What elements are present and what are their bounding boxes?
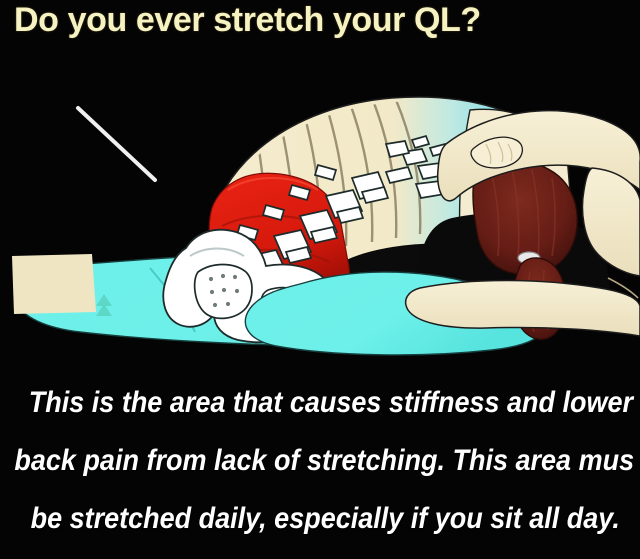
- caption-block: This is the area that causes stiffness a…: [0, 372, 640, 559]
- infographic-poster: Do you ever stretch your QL? quadratus l…: [0, 0, 640, 559]
- anatomy-illustration: [0, 40, 640, 370]
- page-title: Do you ever stretch your QL?: [14, 0, 634, 42]
- caption-line-1: This is the area that causes stiffness a…: [0, 386, 605, 420]
- thigh-skin: [12, 254, 96, 314]
- caption-line-2: back pain from lack of stretching. This …: [0, 444, 590, 478]
- caption-line-3: be stretched daily, especially if you si…: [0, 502, 607, 536]
